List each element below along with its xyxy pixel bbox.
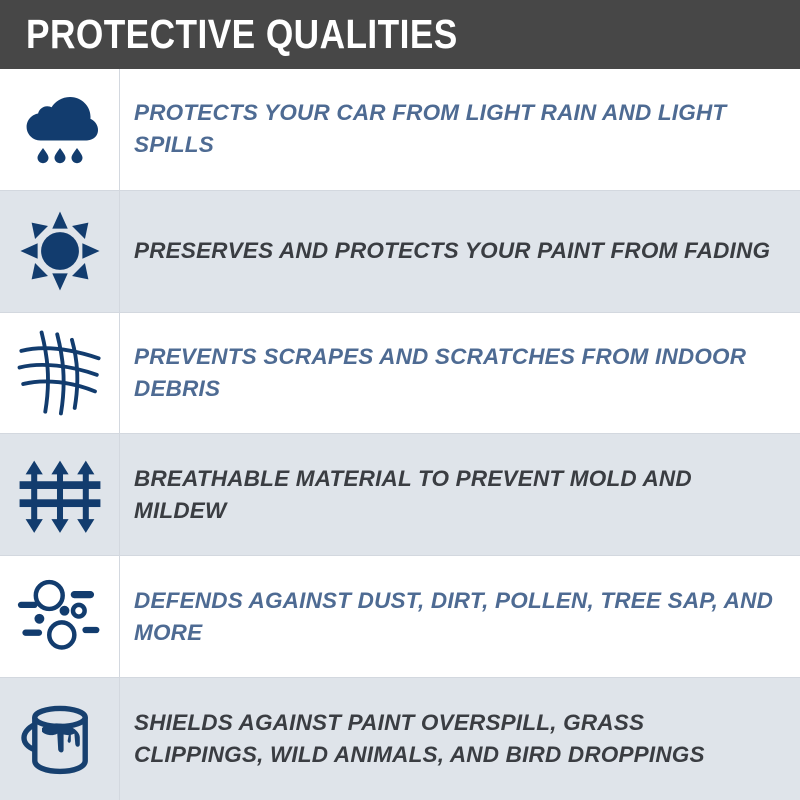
feature-row-sun: PRESERVES AND PROTECTS YOUR PAINT FROM F… (0, 191, 800, 313)
header-bar: PROTECTIVE QUALITIES (0, 0, 800, 69)
protective-qualities-infographic: PROTECTIVE QUALITIES PRO (0, 0, 800, 800)
text-cell: PREVENTS SCRAPES AND SCRATCHES FROM INDO… (120, 313, 800, 434)
rain-cloud-icon (17, 86, 103, 172)
feature-row-rain: PROTECTS YOUR CAR FROM LIGHT RAIN AND LI… (0, 69, 800, 191)
feature-row-paint: SHIELDS AGAINST PAINT OVERSPILL, GRASS C… (0, 678, 800, 800)
feature-list: PROTECTS YOUR CAR FROM LIGHT RAIN AND LI… (0, 69, 800, 800)
paint-can-icon (15, 694, 105, 784)
text-cell: SHIELDS AGAINST PAINT OVERSPILL, GRASS C… (120, 678, 800, 800)
icon-cell (0, 69, 120, 190)
feature-text: BREATHABLE MATERIAL TO PREVENT MOLD AND … (134, 463, 778, 527)
text-cell: BREATHABLE MATERIAL TO PREVENT MOLD AND … (120, 434, 800, 555)
text-cell: PROTECTS YOUR CAR FROM LIGHT RAIN AND LI… (120, 69, 800, 190)
icon-cell (0, 313, 120, 434)
breathable-airflow-icon (17, 452, 103, 538)
feature-text: DEFENDS AGAINST DUST, DIRT, POLLEN, TREE… (134, 585, 778, 649)
sun-icon (17, 208, 103, 294)
dust-particles-icon (15, 574, 105, 660)
feature-row-breathable: BREATHABLE MATERIAL TO PREVENT MOLD AND … (0, 434, 800, 556)
scratches-mesh-icon (14, 327, 106, 419)
feature-text: PREVENTS SCRAPES AND SCRATCHES FROM INDO… (134, 341, 778, 405)
icon-cell (0, 434, 120, 555)
feature-row-dust: DEFENDS AGAINST DUST, DIRT, POLLEN, TREE… (0, 556, 800, 678)
icon-cell (0, 556, 120, 677)
text-cell: PRESERVES AND PROTECTS YOUR PAINT FROM F… (120, 191, 800, 312)
icon-cell (0, 191, 120, 312)
feature-text: PRESERVES AND PROTECTS YOUR PAINT FROM F… (134, 235, 770, 267)
text-cell: DEFENDS AGAINST DUST, DIRT, POLLEN, TREE… (120, 556, 800, 677)
feature-text: PROTECTS YOUR CAR FROM LIGHT RAIN AND LI… (134, 97, 778, 161)
icon-cell (0, 678, 120, 800)
feature-row-scratches: PREVENTS SCRAPES AND SCRATCHES FROM INDO… (0, 313, 800, 435)
page-title: PROTECTIVE QUALITIES (26, 14, 458, 55)
feature-text: SHIELDS AGAINST PAINT OVERSPILL, GRASS C… (134, 707, 778, 771)
